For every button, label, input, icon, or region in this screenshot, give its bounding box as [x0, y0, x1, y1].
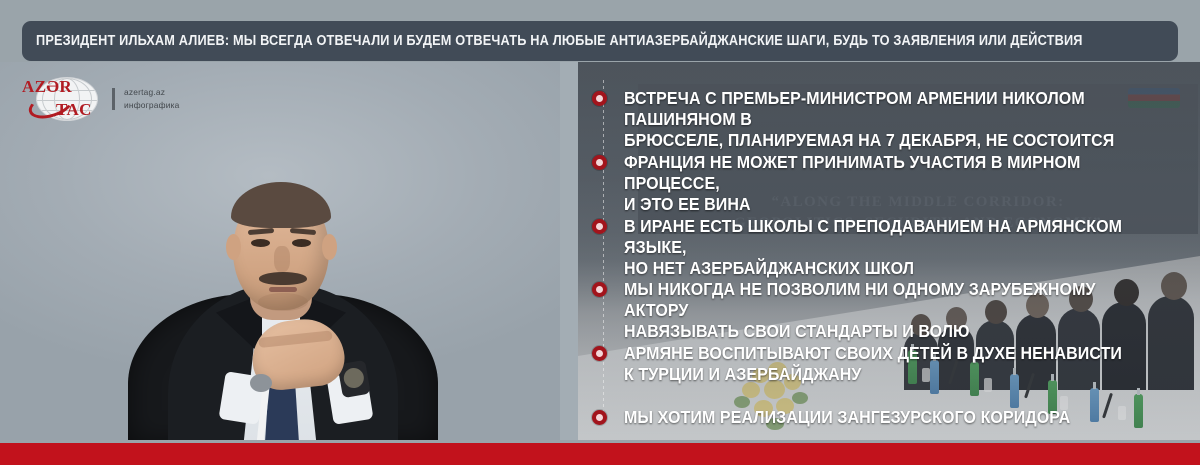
logo-text-azer: AZƏR	[22, 77, 72, 97]
logo-site-url: azertag.az	[124, 86, 180, 99]
ear-left	[226, 234, 241, 260]
list-item-label: МЫ НИКОГДА НЕ ПОЗВОЛИМ НИ ОДНОМУ ЗАРУБЕЖ…	[624, 279, 1152, 342]
logo-section-label: инфографика	[124, 99, 180, 112]
bottom-accent-bar	[0, 443, 1200, 465]
logo-caption: azertag.az инфографика	[124, 86, 180, 112]
headline-bar: ПРЕЗИДЕНТ ИЛЬХАМ АЛИЕВ: МЫ ВСЕГДА ОТВЕЧА…	[22, 21, 1178, 61]
page-title: ПРЕЗИДЕНТ ИЛЬХАМ АЛИЕВ: МЫ ВСЕГДА ОТВЕЧА…	[36, 34, 1083, 48]
list-item[interactable]: В ИРАНЕ ЕСТЬ ШКОЛЫ С ПРЕПОДАВАНИЕМ НА АР…	[592, 216, 1192, 279]
logo-divider	[112, 88, 115, 110]
quotes-panel: “ALONG THE MIDDLE CORRIDOR: GEOPOLITICS,…	[578, 62, 1200, 440]
list-item-label: В ИРАНЕ ЕСТЬ ШКОЛЫ С ПРЕПОДАВАНИЕМ НА АР…	[624, 216, 1152, 279]
list-item[interactable]: ВСТРЕЧА С ПРЕМЬЕР-МИНИСТРОМ АРМЕНИИ НИКО…	[592, 88, 1192, 151]
bullet-dot-icon	[592, 410, 607, 425]
list-item[interactable]: МЫ НИКОГДА НЕ ПОЗВОЛИМ НИ ОДНОМУ ЗАРУБЕЖ…	[592, 279, 1192, 342]
eye-right	[292, 239, 311, 247]
list-item[interactable]: АРМЯНЕ ВОСПИТЫВАЮТ СВОИХ ДЕТЕЙ В ДУХЕ НЕ…	[592, 343, 1192, 385]
list-item-label: ВСТРЕЧА С ПРЕМЬЕР-МИНИСТРОМ АРМЕНИИ НИКО…	[624, 88, 1152, 151]
list-item-label: ФРАНЦИЯ НЕ МОЖЕТ ПРИНИМАТЬ УЧАСТИЯ В МИР…	[624, 152, 1152, 215]
bullet-dot-icon	[592, 219, 607, 234]
azertac-logo[interactable]: AZƏR TAC azertag.az инфографика	[22, 70, 192, 128]
eye-left	[251, 239, 270, 247]
bullet-dot-icon	[592, 91, 607, 106]
mustache	[259, 272, 307, 285]
quote-bullet-list: ВСТРЕЧА С ПРЕМЬЕР-МИНИСТРОМ АРМЕНИИ НИКО…	[578, 62, 1200, 440]
nose	[274, 246, 290, 272]
bullet-dot-icon	[592, 346, 607, 361]
ear-right	[322, 234, 337, 260]
mouth	[269, 287, 297, 292]
hair	[231, 182, 331, 228]
list-item-label: МЫ ХОТИМ РЕАЛИЗАЦИИ ЗАНГЕЗУРСКОГО КОРИДО…	[624, 407, 1070, 428]
logo-globe-icon: AZƏR TAC	[22, 71, 108, 127]
logo-text-tac: TAC	[56, 100, 92, 120]
panel-divider	[560, 62, 578, 440]
list-item-label: АРМЯНЕ ВОСПИТЫВАЮТ СВОИХ ДЕТЕЙ В ДУХЕ НЕ…	[624, 343, 1122, 385]
chin	[258, 293, 308, 311]
list-item[interactable]: ФРАНЦИЯ НЕ МОЖЕТ ПРИНИМАТЬ УЧАСТИЯ В МИР…	[592, 152, 1192, 215]
bullet-dot-icon	[592, 155, 607, 170]
list-item[interactable]: МЫ ХОТИМ РЕАЛИЗАЦИИ ЗАНГЕЗУРСКОГО КОРИДО…	[592, 407, 1192, 428]
bullet-dot-icon	[592, 282, 607, 297]
infographic-canvas: “ALONG THE MIDDLE CORRIDOR: GEOPOLITICS,…	[0, 0, 1200, 465]
microphone-head	[250, 374, 272, 392]
